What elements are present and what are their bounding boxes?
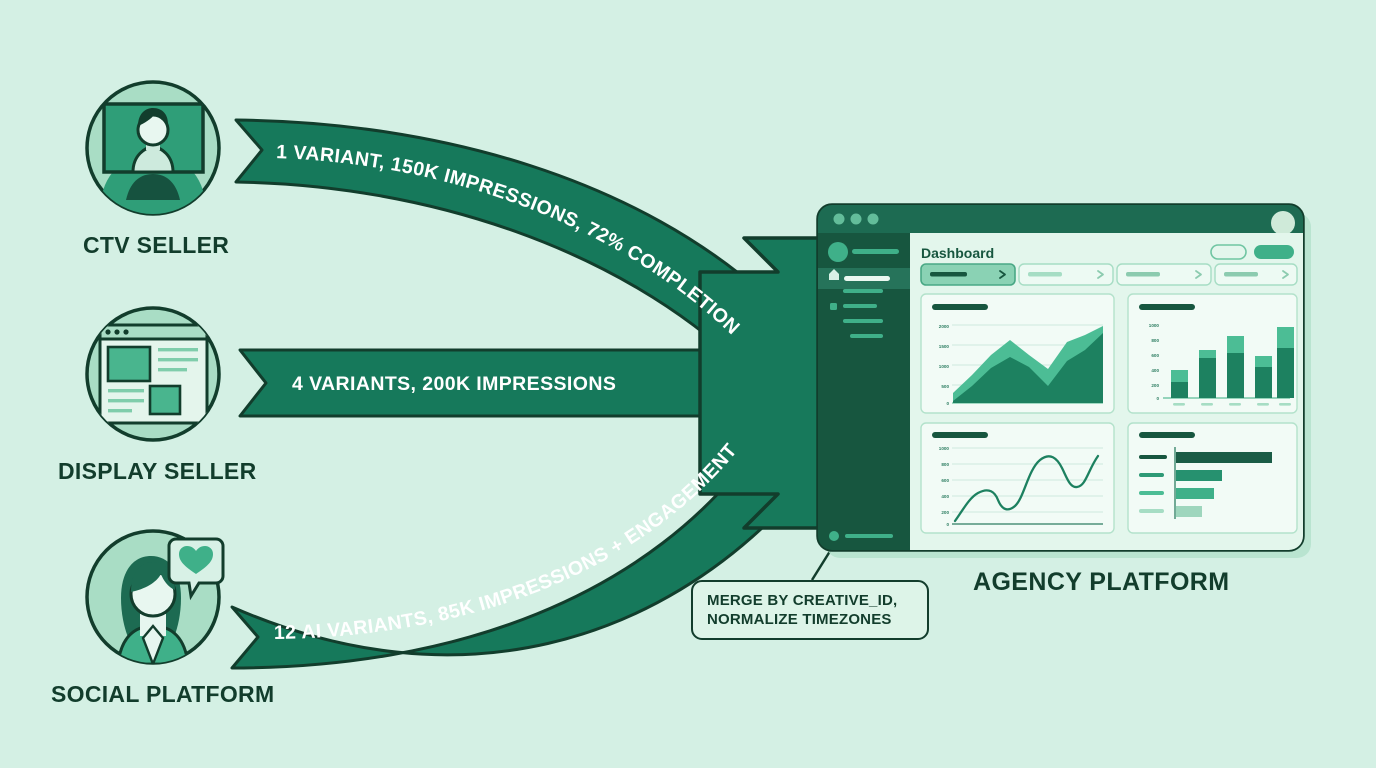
- svg-text:500: 500: [941, 384, 949, 389]
- svg-text:800: 800: [1151, 338, 1159, 343]
- window-avatar-icon: [1271, 211, 1295, 235]
- nav-card-2: [1019, 264, 1113, 285]
- source-label-social: SOCIAL PLATFORM: [51, 681, 274, 708]
- svg-text:800: 800: [941, 462, 949, 467]
- svg-text:600: 600: [1151, 353, 1159, 358]
- svg-text:200: 200: [941, 510, 949, 515]
- pill-filled-button: [1254, 245, 1294, 259]
- svg-text:0: 0: [946, 522, 949, 527]
- svg-text:400: 400: [1151, 368, 1159, 373]
- nav-card-3: [1117, 264, 1211, 285]
- social-platform-icon: [87, 531, 223, 664]
- svg-text:1000: 1000: [939, 446, 950, 451]
- svg-text:0: 0: [1156, 396, 1159, 401]
- merge-callout-line2: NORMALIZE TIMEZONES: [707, 610, 927, 629]
- ribbon-label-display: 4 VARIANTS, 200K IMPRESSIONS: [292, 373, 616, 395]
- svg-text:400: 400: [941, 494, 949, 499]
- svg-text:600: 600: [941, 478, 949, 483]
- svg-text:2000: 2000: [939, 324, 950, 329]
- diagram-graphics: 1 VARIANT, 150K IMPRESSIONS, 72% COMPLET…: [0, 0, 1376, 768]
- agency-platform-label: AGENCY PLATFORM: [973, 568, 1229, 597]
- svg-text:1000: 1000: [1149, 323, 1160, 328]
- ctv-seller-icon: [87, 82, 219, 257]
- svg-text:1500: 1500: [939, 344, 950, 349]
- source-label-display: DISPLAY SELLER: [58, 458, 256, 485]
- callout-leader-line: [812, 548, 832, 580]
- dashboard-title: Dashboard: [921, 245, 994, 261]
- nav-card-4: [1215, 264, 1297, 285]
- gear-icon: [829, 531, 839, 541]
- chart-panel-bars: 1000 800 600 400 200 0: [1128, 294, 1297, 413]
- window-dot-3: [868, 214, 879, 225]
- svg-text:0: 0: [946, 401, 949, 406]
- file-icon: [830, 303, 837, 310]
- nav-card-1: [921, 264, 1015, 285]
- svg-text:1000: 1000: [939, 364, 950, 369]
- display-seller-icon: [87, 308, 219, 440]
- chart-panel-area: 2000 1500 1000 500 0: [921, 294, 1114, 413]
- merge-callout: MERGE BY CREATIVE_ID, NORMALIZE TIMEZONE…: [691, 580, 929, 640]
- diagram-canvas: 1 VARIANT, 150K IMPRESSIONS, 72% COMPLET…: [0, 0, 1376, 768]
- sidebar-avatar: [828, 242, 848, 262]
- chart-panel-hbars: [1128, 423, 1297, 533]
- svg-text:200: 200: [1151, 383, 1159, 388]
- window-dot-2: [851, 214, 862, 225]
- chart-panel-line: 1000 800 600 400 200 0: [921, 423, 1114, 533]
- window-dot-1: [834, 214, 845, 225]
- source-label-ctv: CTV SELLER: [83, 232, 229, 259]
- user-icon: [0, 288, 7, 295]
- merge-callout-line1: MERGE BY CREATIVE_ID,: [707, 591, 927, 610]
